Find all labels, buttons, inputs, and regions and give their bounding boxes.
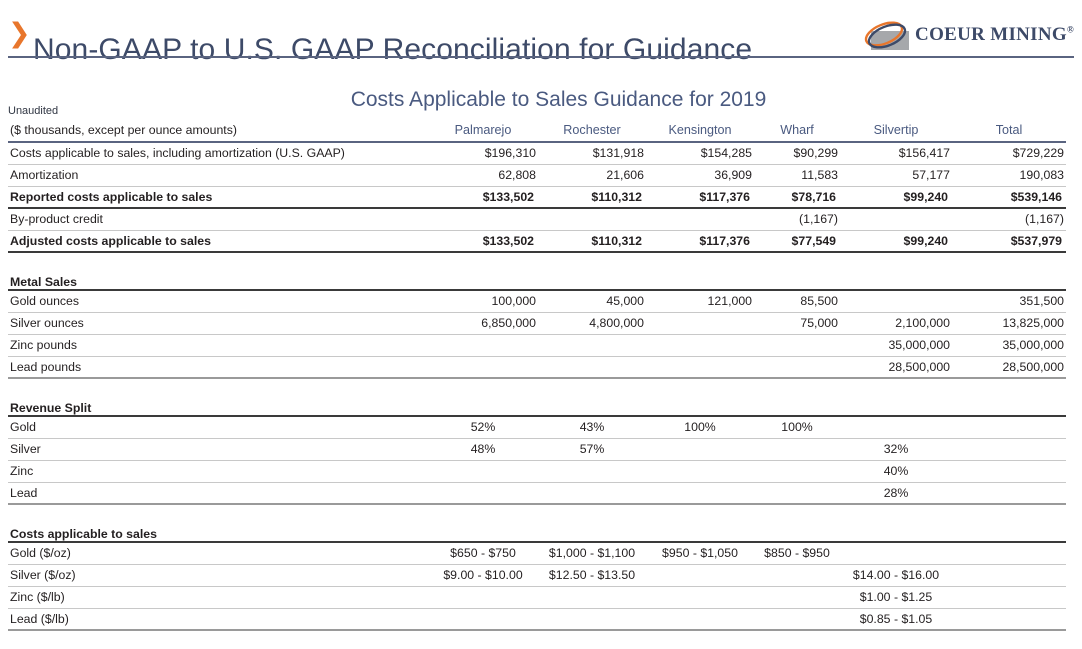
cell-wharf: (1,167) [754,208,840,230]
section-header-costs-applicable: Costs applicable to sales [8,516,1066,542]
section-spacer [8,378,1066,390]
section-title: Costs applicable to sales [8,516,428,542]
cell-total: 28,500,000 [952,356,1066,378]
row-label: Silver [8,438,428,460]
cell-silvertip: 28% [840,482,952,504]
column-header-rochester: Rochester [538,118,646,142]
cell-silvertip: 40% [840,460,952,482]
cell-wharf [754,356,840,378]
section-fill [538,264,646,290]
spacer-cell [8,252,1066,264]
cell-palmarejo [428,460,538,482]
cell-kensington [646,312,754,334]
cell-rochester: $131,918 [538,142,646,164]
cell-palmarejo: 62,808 [428,164,538,186]
table-row: Zinc pounds 35,000,000 35,000,000 [8,334,1066,356]
cell-palmarejo: $196,310 [428,142,538,164]
section-fill [840,390,952,416]
table-row: Lead ($/lb) $0.85 - $1.05 [8,608,1066,630]
guidance-table: ($ thousands, except per ounce amounts) … [8,118,1066,631]
table-row: Lead 28% [8,482,1066,504]
row-label: Lead pounds [8,356,428,378]
column-header-silvertip: Silvertip [840,118,952,142]
section-fill [428,516,538,542]
section-fill [646,264,754,290]
cell-palmarejo: $133,502 [428,186,538,208]
cell-wharf [754,334,840,356]
cell-wharf [754,438,840,460]
cell-silvertip: 35,000,000 [840,334,952,356]
cell-wharf: $90,299 [754,142,840,164]
report-title: Costs Applicable to Sales Guidance for 2… [0,88,1082,112]
row-label: Zinc pounds [8,334,428,356]
report-title-band: Unaudited Costs Applicable to Sales Guid… [0,88,1082,118]
cell-rochester: $1,000 - $1,100 [538,542,646,564]
cell-total: 35,000,000 [952,334,1066,356]
column-header-label: ($ thousands, except per ounce amounts) [8,118,428,142]
cell-rochester: 21,606 [538,164,646,186]
cell-palmarejo: $9.00 - $10.00 [428,564,538,586]
table-row: Zinc 40% [8,460,1066,482]
table-row-adjusted-costs: Adjusted costs applicable to sales $133,… [8,230,1066,252]
cell-total: 190,083 [952,164,1066,186]
slide-header: ❯ Non-GAAP to U.S. GAAP Reconciliation f… [0,0,1082,66]
table-row: Silver 48% 57% 32% [8,438,1066,460]
cell-wharf: 75,000 [754,312,840,334]
row-label: Gold ounces [8,290,428,312]
cell-total: $539,146 [952,186,1066,208]
cell-wharf: $850 - $950 [754,542,840,564]
cell-rochester: 4,800,000 [538,312,646,334]
cell-silvertip [840,416,952,438]
cell-rochester [538,334,646,356]
table-row: By-product credit (1,167) (1,167) [8,208,1066,230]
cell-total: $537,979 [952,230,1066,252]
logo-wordmark: COEUR MINING® [915,24,1074,46]
table-row: Amortization 62,808 21,606 36,909 11,583… [8,164,1066,186]
cell-kensington [646,564,754,586]
cell-rochester: 57% [538,438,646,460]
table-header-row: ($ thousands, except per ounce amounts) … [8,118,1066,142]
section-fill [754,264,840,290]
cell-kensington: $950 - $1,050 [646,542,754,564]
cell-total [952,586,1066,608]
cell-total: 351,500 [952,290,1066,312]
spacer-cell [8,504,1066,516]
cell-palmarejo [428,208,538,230]
cell-wharf: 100% [754,416,840,438]
cell-rochester [538,460,646,482]
column-header-total: Total [952,118,1066,142]
logo-wordmark-text: COEUR MINING [915,24,1067,45]
cell-kensington [646,608,754,630]
header-divider [8,56,1074,58]
table-row-reported-costs: Reported costs applicable to sales $133,… [8,186,1066,208]
cell-kensington [646,334,754,356]
page-title: Non-GAAP to U.S. GAAP Reconciliation for… [33,33,752,67]
cell-kensington [646,438,754,460]
table-row: Silver ounces 6,850,000 4,800,000 75,000… [8,312,1066,334]
section-fill [538,516,646,542]
cell-silvertip: 2,100,000 [840,312,952,334]
coeur-mining-logo: COEUR MINING® [862,18,1074,52]
cell-silvertip: $99,240 [840,230,952,252]
section-fill [952,390,1066,416]
cell-palmarejo: $650 - $750 [428,542,538,564]
column-header-kensington: Kensington [646,118,754,142]
row-label: Costs applicable to sales, including amo… [8,142,428,164]
cell-wharf: $78,716 [754,186,840,208]
cell-silvertip: 57,177 [840,164,952,186]
cell-total [952,416,1066,438]
row-label: By-product credit [8,208,428,230]
row-label: Reported costs applicable to sales [8,186,428,208]
column-header-wharf: Wharf [754,118,840,142]
cell-kensington [646,460,754,482]
cell-total [952,438,1066,460]
section-fill [646,390,754,416]
cell-palmarejo: 100,000 [428,290,538,312]
cell-total: 13,825,000 [952,312,1066,334]
cell-silvertip: $156,417 [840,142,952,164]
cell-kensington [646,356,754,378]
cell-kensington [646,586,754,608]
cell-kensington: $154,285 [646,142,754,164]
section-fill [754,516,840,542]
cell-rochester [538,586,646,608]
cell-kensington [646,482,754,504]
cell-palmarejo [428,482,538,504]
cell-silvertip: 28,500,000 [840,356,952,378]
cell-kensington: 121,000 [646,290,754,312]
cell-wharf [754,586,840,608]
cell-total [952,608,1066,630]
section-fill [538,390,646,416]
cell-silvertip: $0.85 - $1.05 [840,608,952,630]
column-header-palmarejo: Palmarejo [428,118,538,142]
cell-kensington [646,208,754,230]
section-header-metal-sales: Metal Sales [8,264,1066,290]
section-fill [840,264,952,290]
section-title: Metal Sales [8,264,428,290]
cell-palmarejo: $133,502 [428,230,538,252]
section-spacer [8,252,1066,264]
cell-palmarejo: 52% [428,416,538,438]
chevron-right-icon: ❯ [8,20,31,47]
cell-palmarejo [428,586,538,608]
cell-rochester [538,356,646,378]
table-row: Gold 52% 43% 100% 100% [8,416,1066,438]
section-fill [840,516,952,542]
cell-total [952,460,1066,482]
cell-wharf [754,608,840,630]
coeur-ellipse-icon [862,19,910,51]
table-row: Costs applicable to sales, including amo… [8,142,1066,164]
logo-ellipse-svg [862,19,910,51]
cell-total [952,482,1066,504]
section-fill [952,264,1066,290]
cell-silvertip [840,290,952,312]
cell-rochester: $110,312 [538,186,646,208]
section-fill [646,516,754,542]
cell-wharf: 11,583 [754,164,840,186]
cell-total [952,542,1066,564]
row-label: Lead ($/lb) [8,608,428,630]
cell-silvertip: $1.00 - $1.25 [840,586,952,608]
table-row: Gold ounces 100,000 45,000 121,000 85,50… [8,290,1066,312]
cell-rochester: 43% [538,416,646,438]
cell-rochester: $12.50 - $13.50 [538,564,646,586]
section-title: Revenue Split [8,390,428,416]
registered-mark-icon: ® [1067,25,1074,35]
cell-rochester: $110,312 [538,230,646,252]
section-fill [754,390,840,416]
section-fill [952,516,1066,542]
row-label: Silver ($/oz) [8,564,428,586]
cell-wharf: 85,500 [754,290,840,312]
section-header-revenue-split: Revenue Split [8,390,1066,416]
cell-kensington: $117,376 [646,230,754,252]
cell-wharf [754,460,840,482]
cell-wharf [754,564,840,586]
cell-palmarejo [428,334,538,356]
cell-rochester: 45,000 [538,290,646,312]
cell-silvertip [840,542,952,564]
cell-rochester [538,608,646,630]
table-row: Silver ($/oz) $9.00 - $10.00 $12.50 - $1… [8,564,1066,586]
cell-palmarejo: 48% [428,438,538,460]
row-label: Zinc [8,460,428,482]
row-label: Amortization [8,164,428,186]
cell-wharf: $77,549 [754,230,840,252]
cell-palmarejo [428,608,538,630]
cell-rochester [538,208,646,230]
cell-total: $729,229 [952,142,1066,164]
spacer-cell [8,378,1066,390]
cell-kensington: 100% [646,416,754,438]
cell-wharf [754,482,840,504]
table-row: Lead pounds 28,500,000 28,500,000 [8,356,1066,378]
cell-total: (1,167) [952,208,1066,230]
row-label: Silver ounces [8,312,428,334]
cell-palmarejo: 6,850,000 [428,312,538,334]
cell-silvertip: $99,240 [840,186,952,208]
cell-kensington: $117,376 [646,186,754,208]
cell-rochester [538,482,646,504]
table-row: Zinc ($/lb) $1.00 - $1.25 [8,586,1066,608]
row-label: Gold [8,416,428,438]
row-label: Gold ($/oz) [8,542,428,564]
cell-total [952,564,1066,586]
section-spacer [8,504,1066,516]
cell-silvertip: 32% [840,438,952,460]
cell-silvertip: $14.00 - $16.00 [840,564,952,586]
cell-silvertip [840,208,952,230]
section-fill [428,264,538,290]
cell-palmarejo [428,356,538,378]
table-row: Gold ($/oz) $650 - $750 $1,000 - $1,100 … [8,542,1066,564]
row-label: Lead [8,482,428,504]
row-label: Adjusted costs applicable to sales [8,230,428,252]
cell-kensington: 36,909 [646,164,754,186]
section-fill [428,390,538,416]
row-label: Zinc ($/lb) [8,586,428,608]
